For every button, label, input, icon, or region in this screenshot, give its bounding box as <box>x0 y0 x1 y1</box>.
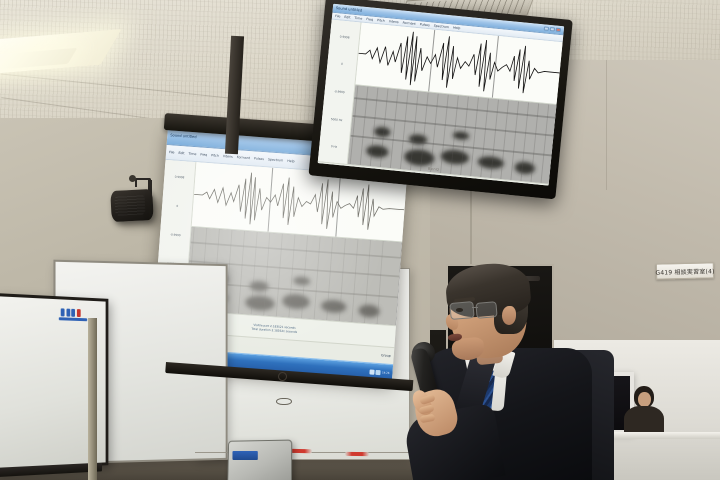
menu-intens[interactable]: Intens <box>223 154 233 159</box>
menu-file[interactable]: File <box>335 14 341 19</box>
window-controls[interactable] <box>544 26 561 32</box>
scroll-forward-button[interactable] <box>351 175 357 181</box>
menu-formant[interactable]: Formant <box>237 155 251 160</box>
marker-holder-strip <box>59 317 87 321</box>
taskbar-clock: 14:26 <box>382 372 390 376</box>
plot-area: 0.9998 0 -0.9999 5000 Hz 0 Hz <box>318 20 563 184</box>
eyeglasses-icon <box>475 301 497 319</box>
amplitude-zero-label: 0 <box>176 204 178 208</box>
monitor-bezel: Sound untitled File Edit Time Freq Pitch <box>308 0 572 199</box>
menu-help[interactable]: Help <box>453 26 461 31</box>
amplitude-min-label: -0.9999 <box>170 232 181 237</box>
menu-spectrum[interactable]: Spectrum <box>268 157 284 162</box>
scroll-back-button[interactable] <box>343 174 349 180</box>
tray-icon[interactable] <box>375 370 380 375</box>
presenter-eye <box>456 308 463 312</box>
blue-marker[interactable] <box>61 308 65 316</box>
menu-pulses[interactable]: Pulses <box>254 156 264 161</box>
zoom-all-button[interactable] <box>319 172 325 178</box>
menu-pulses[interactable]: Pulses <box>420 22 430 27</box>
presenter-laptop[interactable] <box>226 440 292 480</box>
menu-edit[interactable]: Edit <box>178 151 184 155</box>
freq-min-label: 0 Hz <box>331 145 338 150</box>
amplitude-max-label: 0.9998 <box>174 175 184 180</box>
laptop-asset-sticker <box>232 451 257 460</box>
speaker-grill <box>114 194 145 216</box>
whiteboard-support-pole <box>88 318 97 480</box>
menu-file[interactable]: File <box>169 150 175 154</box>
blue-marker[interactable] <box>66 309 70 317</box>
menu-pitch[interactable]: Pitch <box>377 18 385 23</box>
monitor-screen: Sound untitled File Edit Time Freq Pitch <box>318 4 565 186</box>
speaker-body <box>110 189 154 222</box>
menu-help[interactable]: Help <box>287 159 295 164</box>
menu-freq[interactable]: Freq <box>200 152 207 156</box>
amplitude-max-label: 0.9998 <box>340 34 350 39</box>
total-duration-label: Total duration 2.183521 seconds <box>410 175 456 183</box>
tray-icon[interactable] <box>369 370 374 375</box>
wall-panel-seam <box>606 60 607 190</box>
amplitude-min-label: -0.9999 <box>334 89 345 94</box>
menu-spectrum[interactable]: Spectrum <box>434 24 450 29</box>
zoom-selection-button[interactable] <box>359 175 365 181</box>
audience-member-face <box>638 392 651 407</box>
speaker-knob <box>129 175 136 182</box>
plots <box>348 23 563 184</box>
blue-marker[interactable] <box>71 309 75 317</box>
freq-max-label: 5000 Hz <box>331 117 343 122</box>
projected-system-tray[interactable]: 14:26 <box>369 370 390 376</box>
close-icon[interactable] <box>556 28 561 32</box>
presenter-speaking <box>398 262 608 480</box>
menu-time[interactable]: Time <box>354 16 362 21</box>
menu-intens[interactable]: Intens <box>389 19 399 24</box>
menu-pitch[interactable]: Pitch <box>211 153 219 158</box>
red-marker[interactable] <box>76 309 80 317</box>
maximize-icon[interactable] <box>550 27 555 31</box>
minimize-icon[interactable] <box>544 26 549 30</box>
group-checkbox-label[interactable]: Group <box>381 353 391 358</box>
red-marker[interactable] <box>345 452 369 456</box>
menu-edit[interactable]: Edit <box>344 15 351 20</box>
presenter-ear <box>502 306 516 325</box>
amplitude-zero-label: 0 <box>341 62 343 66</box>
zoom-in-button[interactable] <box>327 172 333 178</box>
room-sign-text: G419 相談実習室(4) <box>655 266 714 276</box>
menu-formant[interactable]: Formant <box>402 21 416 26</box>
wall-mounted-loudspeaker <box>105 178 165 230</box>
marker-tray-top <box>61 308 80 317</box>
speech-analysis-window: Sound untitled File Edit Time Freq Pitch <box>318 4 565 186</box>
menu-time[interactable]: Time <box>188 151 196 156</box>
menu-freq[interactable]: Freq <box>366 17 373 22</box>
room-number-sign: G419 相談実習室(4) <box>656 262 714 279</box>
eyeglasses-bridge <box>472 307 478 308</box>
lecture-hall-photo: G419 相談実習室(4) <box>0 0 720 480</box>
wall-mounted-lcd-monitor: Sound untitled File Edit Time Freq Pitch <box>308 0 572 199</box>
whiteboard-clip <box>276 398 292 405</box>
zoom-out-button[interactable] <box>335 173 341 179</box>
